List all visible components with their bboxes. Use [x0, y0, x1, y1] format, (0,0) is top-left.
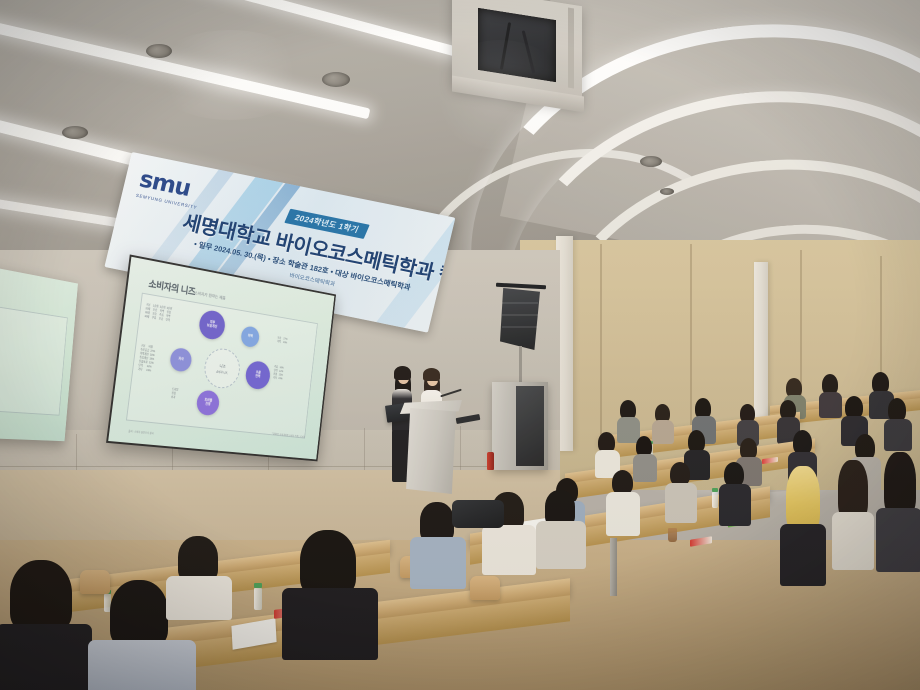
- projector-hatch-arm: [568, 8, 574, 89]
- wood-seam: [600, 244, 602, 444]
- ceiling-vent-icon: [640, 156, 662, 167]
- panel-seam: [0, 466, 545, 467]
- ceiling-vent-icon: [660, 188, 674, 195]
- podium: [404, 408, 456, 494]
- bottle-cap: [712, 488, 718, 492]
- slide-subtitle: 소비자가 원하는 제품: [194, 290, 226, 301]
- wood-seam: [690, 244, 692, 434]
- projection-screen-left: 구분 비율 보습개선 수분공급 27%미백개선 19%주름개선 16%진정효과 …: [0, 259, 78, 441]
- projector-device: [478, 8, 556, 82]
- ceiling-vent-icon: [146, 44, 172, 58]
- ceiling-vent-icon: [322, 72, 350, 87]
- slide-data-block-3: 보습 27%미백 19%: [277, 337, 288, 346]
- bottle-cap: [254, 583, 262, 588]
- speaker-seam: [502, 314, 538, 316]
- slide-frame: [0, 300, 68, 416]
- slide-data-block-4: 주름 16%탄력 12%진정 13%기타 13%: [273, 365, 284, 381]
- smu-logo: smu SEMYUNG UNIVERSITY: [135, 168, 207, 210]
- wall-pillar: [754, 262, 768, 422]
- slide-hub-sub: 소비자 니즈: [216, 369, 228, 374]
- ceiling-vent-icon: [62, 126, 88, 139]
- slide-footer: 출처 : 소비자 설문조사 결과: [128, 429, 154, 435]
- chair: [470, 576, 500, 600]
- water-bottle: [712, 492, 718, 508]
- backpack: [452, 500, 504, 528]
- speaker-seam: [502, 302, 538, 304]
- slide-hub-label: 니즈: [219, 363, 226, 369]
- av-rack-glass-door: [516, 386, 544, 466]
- chair: [80, 570, 110, 594]
- fire-extinguisher: [487, 452, 494, 470]
- line-array-speaker: [500, 288, 540, 350]
- lecture-hall-photo: smu SEMYUNG UNIVERSITY 2024학년도 1학기 세명대학교…: [0, 0, 920, 690]
- water-bottle: [254, 588, 262, 610]
- desk-leg: [610, 538, 617, 596]
- iced-coffee-cup: [668, 528, 677, 542]
- speaker-seam: [502, 326, 538, 328]
